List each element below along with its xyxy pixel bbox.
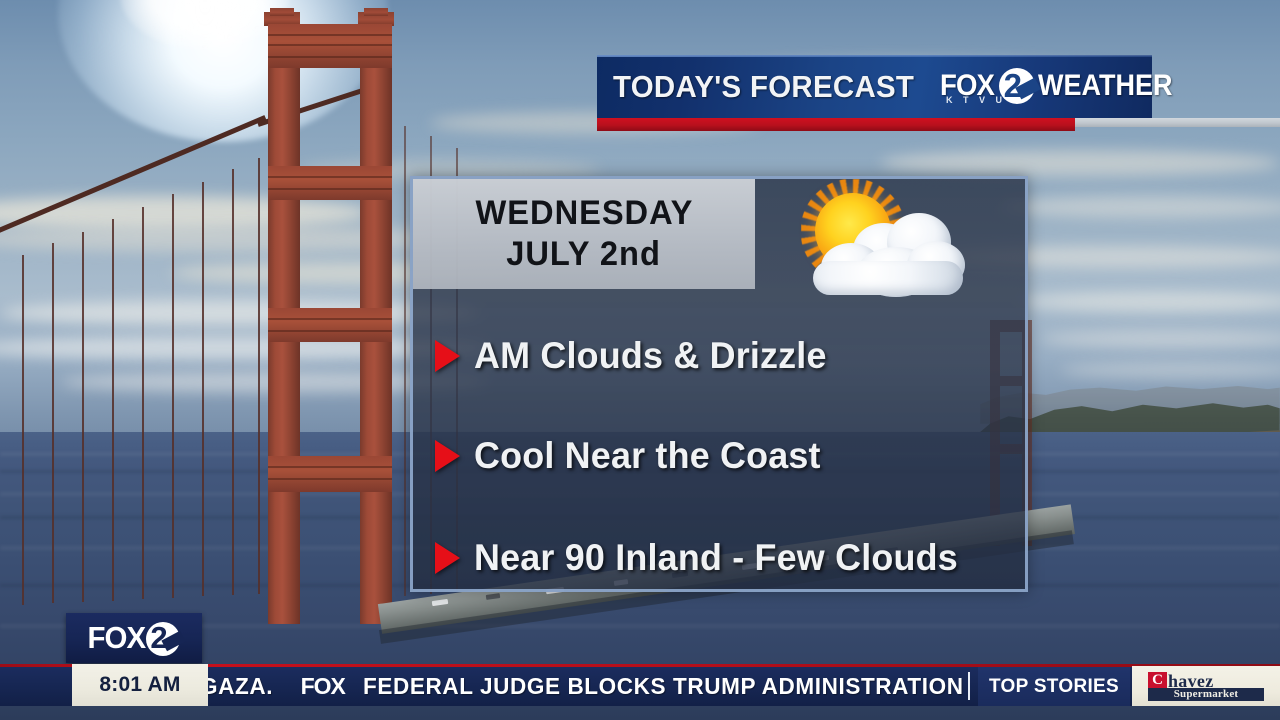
tower-rib (268, 478, 392, 480)
current-time: 8:01 AM (99, 673, 180, 697)
callsign-label: K T V U (946, 95, 1006, 105)
tower-crossbeam (268, 166, 392, 200)
tower-cap (364, 8, 388, 16)
crawl-headline-text: FEDERAL JUDGE BLOCKS TRUMP ADMINISTRATIO… (363, 673, 968, 700)
forecast-bullet-text: AM Clouds & Drizzle (474, 335, 827, 377)
cloud-puff (813, 261, 963, 295)
ticker-crawl: GAZA. FOX FEDERAL JUDGE BLOCKS TRUMP ADM… (208, 667, 968, 706)
bug-fox-wordmark: FOX (87, 620, 145, 656)
sponsor-initial-box: C (1148, 672, 1167, 689)
hanger-cable (232, 169, 234, 595)
clock-panel: 8:01 AM (72, 664, 208, 706)
tower-crossbeam (268, 456, 392, 492)
crawl-fox-wordmark: FOX (301, 673, 345, 700)
forecast-date-header: WEDNESDAY JULY 2nd (413, 179, 755, 289)
sun-behind-cloud-icon (795, 185, 975, 303)
weather-wordmark: WEATHER (1038, 69, 1172, 103)
tower-rib (268, 56, 392, 58)
crawl-caret (968, 672, 970, 700)
hanger-cable (202, 182, 204, 596)
two-digit: 2 (1004, 67, 1022, 105)
forecast-bullet-text: Cool Near the Coast (474, 435, 821, 477)
triangle-bullet-icon (435, 440, 460, 472)
hanger-cable (52, 243, 54, 603)
forecast-bullet-text: Near 90 Inland - Few Clouds (474, 537, 958, 579)
broadcast-screen: TODAY'S FORECAST FOX 2 WEATHER K T V U W… (0, 0, 1280, 720)
hanger-cable (172, 194, 174, 598)
crawl-lead-text: GAZA. (208, 673, 273, 700)
sponsor-logo: C havez Supermarket (1132, 666, 1280, 706)
forecast-day: WEDNESDAY (475, 193, 693, 233)
bug-two-digit: 2 (150, 620, 167, 656)
tower-rib (268, 330, 392, 332)
tower-rib (268, 466, 392, 468)
header-red-stripe (597, 118, 1075, 131)
tower-crossbeam (268, 24, 392, 68)
hanger-cable (142, 207, 144, 599)
hanger-cable (258, 158, 260, 594)
tower-rib (268, 188, 392, 190)
tower-rib (268, 176, 392, 178)
forecast-bullet-list: AM Clouds & Drizzle Cool Near the Coast … (413, 297, 1025, 587)
top-stories-label: TOP STORIES (978, 667, 1130, 706)
tower-rib (268, 34, 392, 36)
forecast-bullet-row: Cool Near the Coast (435, 427, 831, 485)
hanger-cable (82, 232, 84, 602)
tower-rib (268, 44, 392, 46)
triangle-bullet-icon (435, 340, 460, 372)
forecast-panel: WEDNESDAY JULY 2nd AM Clouds & Drizzle C… (410, 176, 1028, 592)
sponsor-tagline: Supermarket (1174, 689, 1239, 700)
bug-channel-two-icon: 2 (144, 619, 182, 657)
hanger-cable (22, 255, 24, 605)
news-ticker: 8:01 AM GAZA. FOX FEDERAL JUDGE BLOCKS T… (0, 664, 1280, 706)
forecast-bullet-row: Near 90 Inland - Few Clouds (435, 529, 973, 587)
tower-rib (268, 318, 392, 320)
forecast-bullet-row: AM Clouds & Drizzle (435, 327, 838, 385)
hanger-cable (112, 219, 114, 601)
top-stories-text: TOP STORIES (989, 676, 1119, 698)
sponsor-tagline-box: Supermarket (1148, 688, 1264, 701)
tower-crossbeam (268, 308, 392, 342)
triangle-bullet-icon (435, 542, 460, 574)
page-title: TODAY'S FORECAST (613, 64, 927, 109)
chavez-supermarket-logo: C havez Supermarket (1148, 670, 1264, 702)
main-cable (0, 115, 266, 241)
station-bug: FOX 2 (66, 613, 202, 663)
hanger-cable (404, 126, 406, 596)
sponsor-initial: C (1152, 673, 1163, 688)
bridge-tower-near (262, 8, 396, 628)
tower-cap (270, 8, 294, 16)
forecast-date: JULY 2nd (507, 233, 662, 275)
